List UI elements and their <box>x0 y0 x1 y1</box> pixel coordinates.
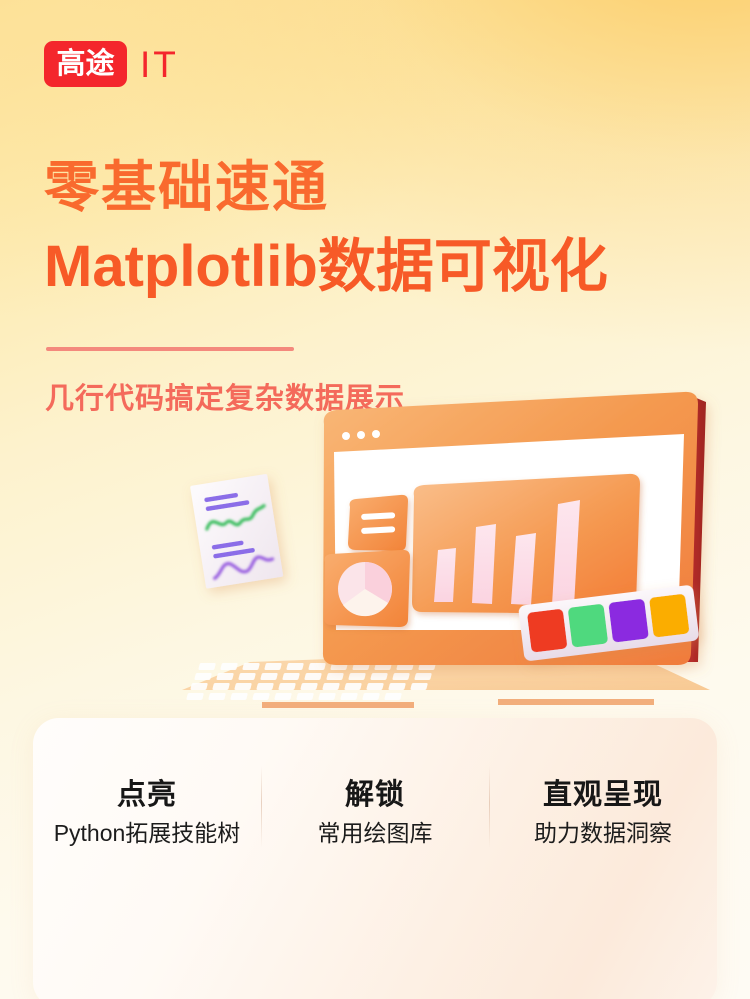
feature-row: 点亮 Python拓展技能树 解锁 常用绘图库 直观呈现 助力数据洞察 <box>33 718 717 908</box>
keyboard-underline-left <box>262 702 414 708</box>
paper-note-illustration <box>190 474 283 589</box>
headline-divider <box>46 347 294 351</box>
feature-desc-3: 助力数据洞察 <box>534 822 672 845</box>
pie-chart-card <box>324 550 410 627</box>
keyboard-underline-right <box>498 699 654 705</box>
feature-desc-2: 常用绘图库 <box>318 822 433 845</box>
paper-note-sheet <box>190 474 283 589</box>
headline-line-1: 零基础速通 <box>44 160 329 215</box>
swatch-red <box>527 609 568 653</box>
brand-logo[interactable]: 高途 IT <box>44 41 179 87</box>
swatch-yellow <box>649 594 690 638</box>
brand-logo-suffix: IT <box>140 46 179 83</box>
feature-title-3: 直观呈现 <box>543 781 663 810</box>
hero-illustration <box>150 390 750 740</box>
swatch-purple <box>608 599 649 643</box>
feature-item-2[interactable]: 解锁 常用绘图库 <box>261 718 489 908</box>
window-dot-3 <box>372 430 380 438</box>
feature-card: 点亮 Python拓展技能树 解锁 常用绘图库 直观呈现 助力数据洞察 <box>33 718 717 999</box>
brand-logo-badge: 高途 <box>44 41 127 87</box>
feature-title-1: 点亮 <box>117 781 177 810</box>
window-dot-2 <box>357 431 365 439</box>
feature-title-2: 解锁 <box>345 781 405 810</box>
feature-desc-1: Python拓展技能树 <box>54 822 241 845</box>
feature-item-1[interactable]: 点亮 Python拓展技能树 <box>33 718 261 908</box>
pie-chart <box>338 562 392 616</box>
promo-poster: 高途 IT 零基础速通 Matplotlib数据可视化 几行代码搞定复杂数据展示 <box>0 0 750 999</box>
swatch-green <box>568 604 609 648</box>
stat-text-card <box>348 495 408 551</box>
window-dot-1 <box>342 432 350 440</box>
bar-2 <box>472 524 496 604</box>
headline-line-2: Matplotlib数据可视化 <box>44 238 608 296</box>
brand-logo-badge-text: 高途 <box>56 50 114 79</box>
feature-item-3[interactable]: 直观呈现 助力数据洞察 <box>489 718 717 908</box>
